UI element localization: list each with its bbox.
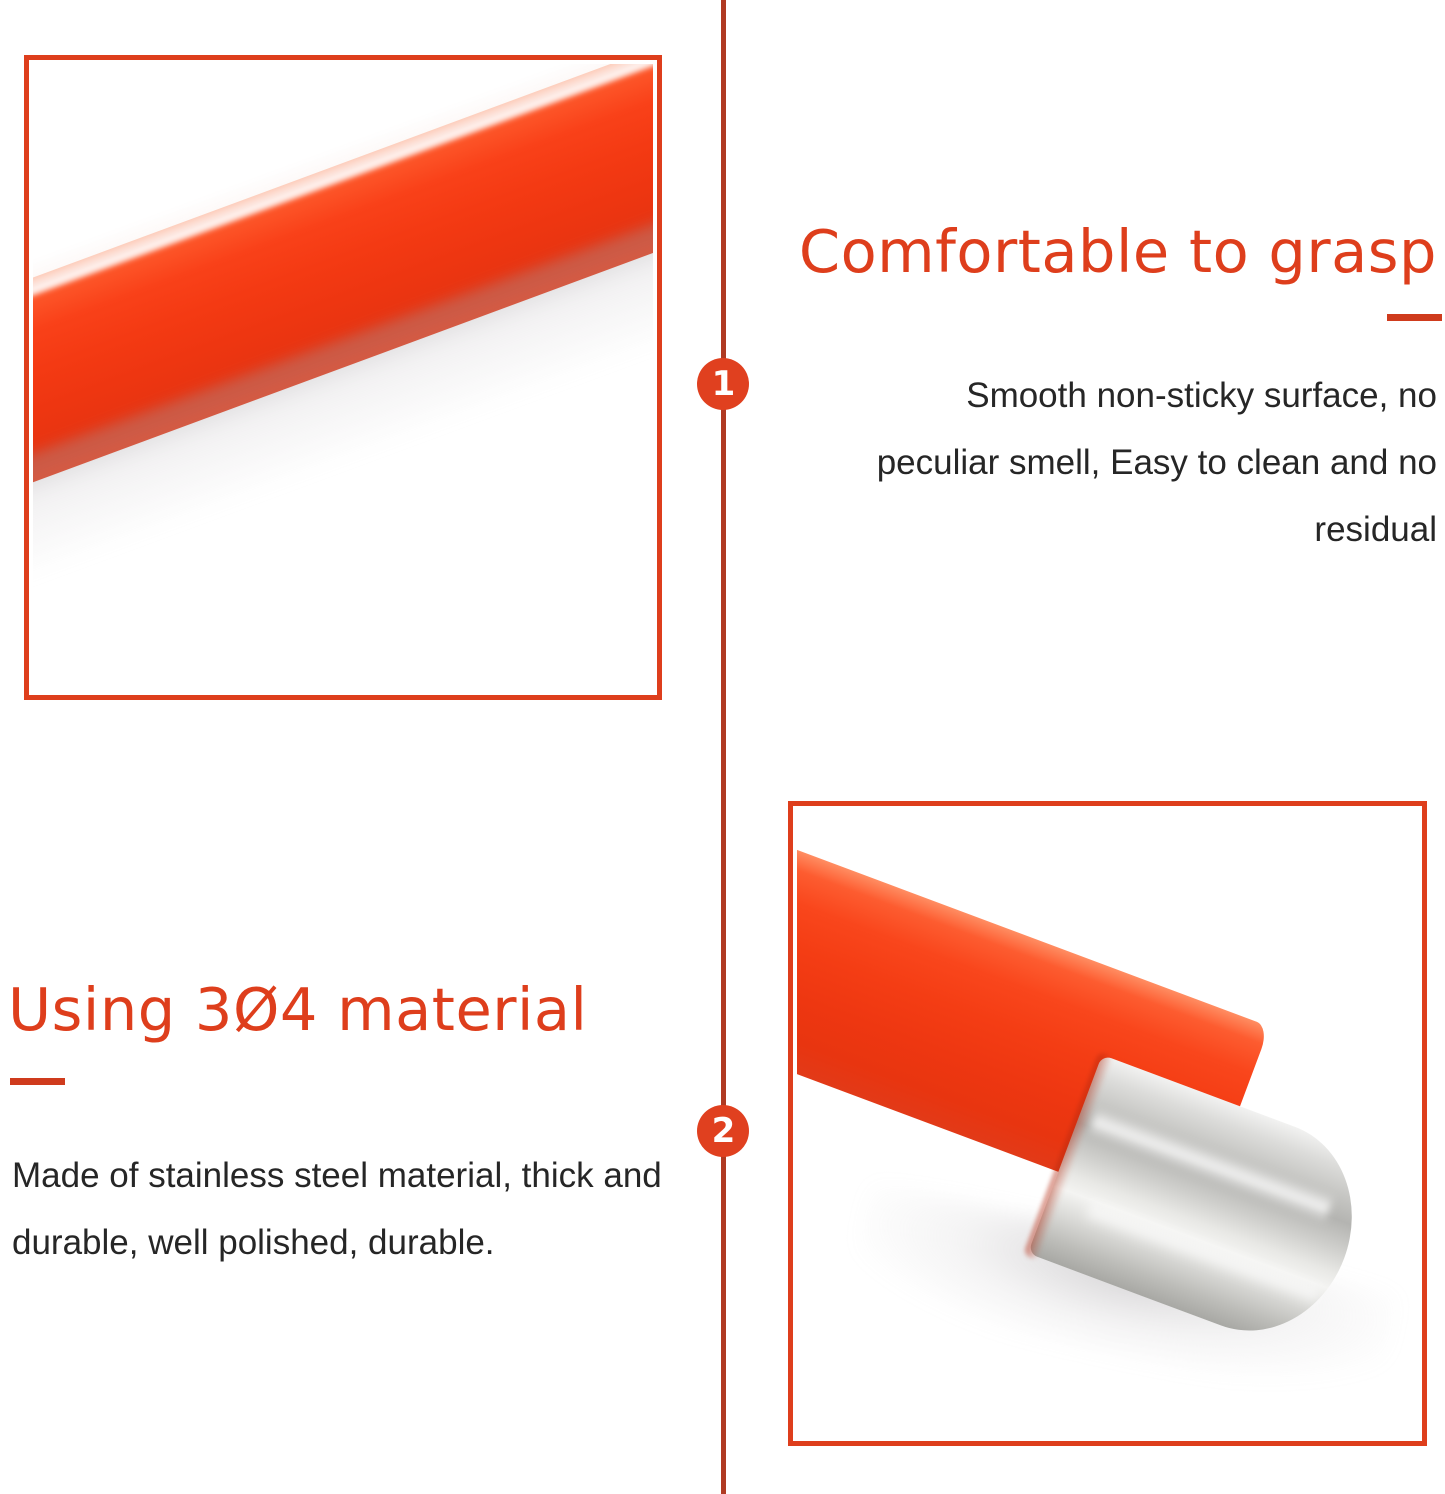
- step-badge-2: 2: [697, 1105, 749, 1157]
- feature-1-title: Comfortable to grasp: [799, 217, 1437, 286]
- feature-2-body: Made of stainless steel material, thick …: [12, 1142, 672, 1276]
- feature-2-title: Using 3Ø4 material: [8, 975, 587, 1044]
- feature-2-title-rule: [10, 1078, 65, 1085]
- feature-2-photo-frame: [788, 801, 1427, 1446]
- feature-1-photo: [29, 60, 657, 695]
- feature-1-title-rule: [1387, 314, 1442, 321]
- step-badge-1: 1: [697, 358, 749, 410]
- feature-1-photo-frame: [24, 55, 662, 700]
- feature-2-photo: [793, 806, 1422, 1441]
- product-feature-infographic: 1 Comfortable to grasp Smooth non-sticky…: [0, 0, 1445, 1494]
- timeline-axis: [721, 0, 726, 1494]
- feature-1-body: Smooth non-sticky surface, no peculiar s…: [837, 362, 1437, 563]
